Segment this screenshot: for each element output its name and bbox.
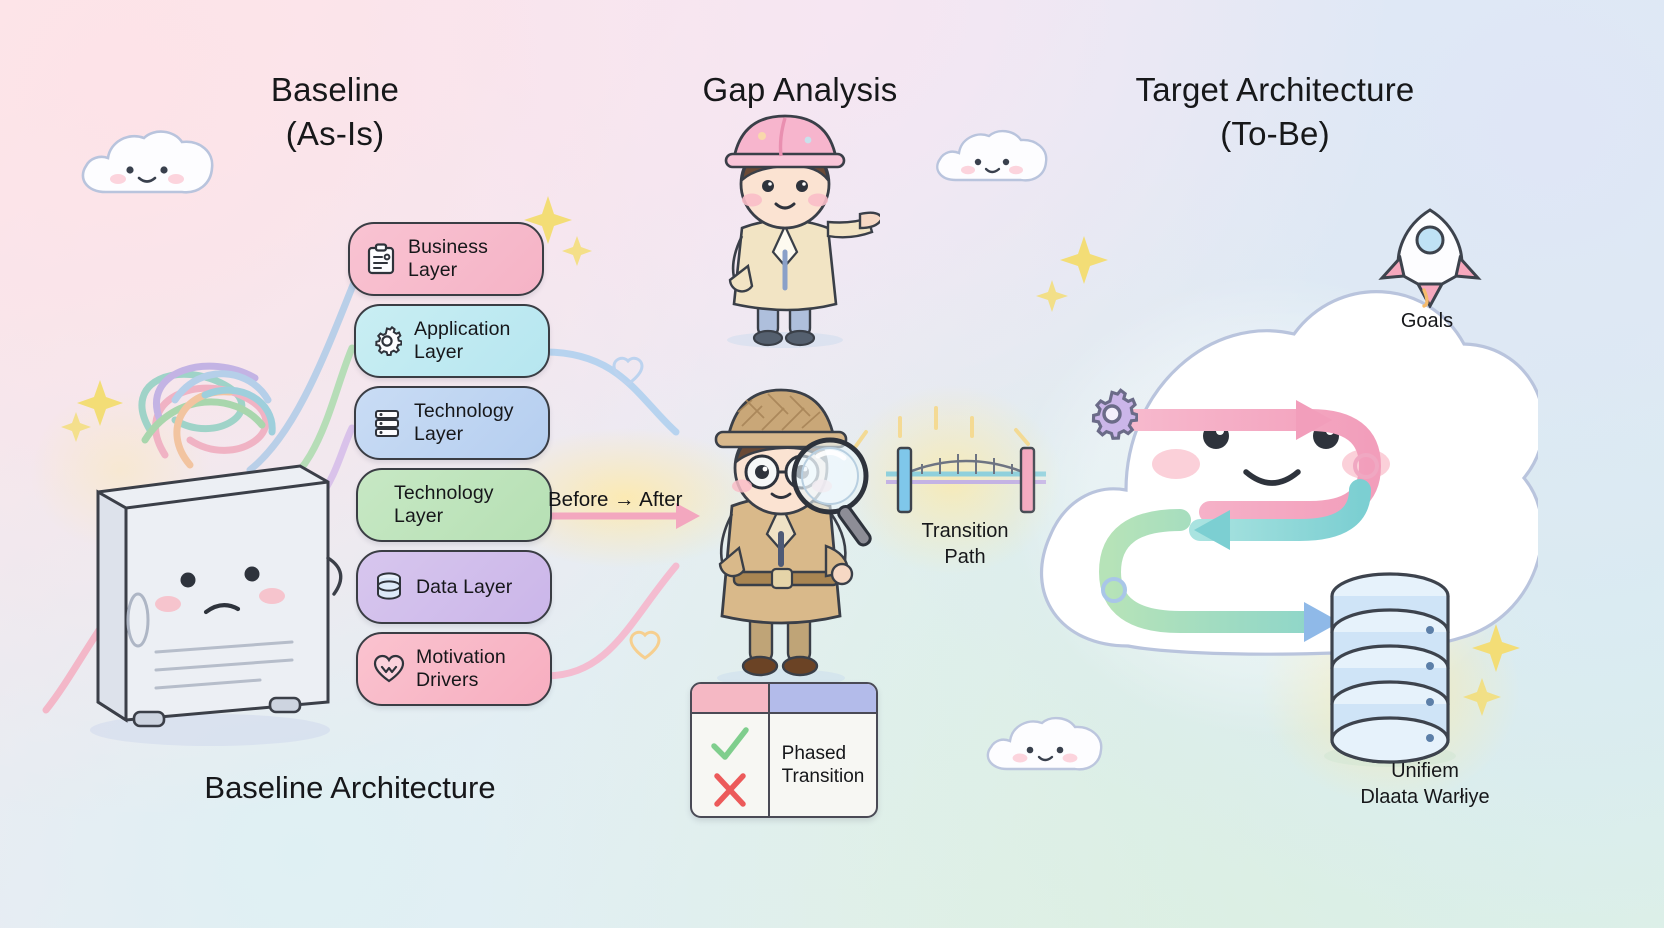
phased-card-header-left <box>692 684 770 712</box>
phased-card-label-column: Phased Transition <box>770 714 876 818</box>
clipboard-icon <box>364 243 398 275</box>
warehouse-label-line1: Unifiem <box>1300 758 1550 784</box>
phased-transition-card[interactable]: Phased Transition <box>690 682 878 818</box>
gap-analysis-title: Gap Analysis <box>640 68 960 112</box>
phased-card-body: Phased Transition <box>692 714 876 818</box>
legacy-server-character <box>60 420 360 750</box>
cloud-center <box>928 122 1053 198</box>
phased-card-header-right <box>770 684 876 712</box>
before-after-label: Before → After <box>548 487 718 513</box>
phased-card-status-column <box>692 714 770 818</box>
target-title-line2: (To-Be) <box>1085 112 1465 156</box>
gear-icon <box>370 326 404 356</box>
layer-pill-data[interactable]: Data Layer <box>356 550 552 624</box>
engineer-character <box>690 110 880 350</box>
baseline-title-line2: (As-Is) <box>190 112 480 156</box>
goals-label: Goals <box>1362 308 1492 334</box>
layer-pill-application-label: Application Layer <box>414 318 511 364</box>
layer-pill-technology-green-label: Technology Layer <box>394 482 494 528</box>
target-title-line1: Target Architecture <box>1085 68 1465 112</box>
detective-character <box>676 360 886 690</box>
layer-pill-motivation[interactable]: Motivation Drivers <box>356 632 552 706</box>
baseline-title-line1: Baseline <box>190 68 480 112</box>
page-title-baseline: Baseline (As-Is) <box>190 68 480 155</box>
rocket-icon <box>1368 196 1488 308</box>
heart-icon <box>372 654 406 684</box>
server-icon <box>370 408 404 438</box>
layer-pill-data-label: Data Layer <box>416 576 512 599</box>
database-icon <box>372 571 406 603</box>
layer-pill-motivation-label: Motivation Drivers <box>416 646 506 692</box>
database-stack-icon <box>1310 570 1470 770</box>
layer-stack: Business Layer Application Layer <box>348 222 548 722</box>
phased-card-label: Phased Transition <box>782 743 865 789</box>
check-icon <box>708 724 752 764</box>
layer-pill-technology-blue[interactable]: Technology Layer <box>354 386 550 460</box>
unified-data-warehouse-label: Unifiem Dlaata Warłiye <box>1300 758 1550 810</box>
layer-pill-technology-green[interactable]: Technology Layer <box>356 468 552 542</box>
phased-card-header <box>692 684 876 714</box>
layer-pill-application[interactable]: Application Layer <box>354 304 550 378</box>
gear-icon <box>1086 388 1138 440</box>
layer-pill-business-label: Business Layer <box>408 236 488 282</box>
cloud-left <box>72 122 222 212</box>
page-title-gap-analysis: Gap Analysis <box>640 68 960 112</box>
cross-icon <box>710 771 750 809</box>
layer-pill-business[interactable]: Business Layer <box>348 222 544 296</box>
warehouse-label-line2: Dlaata Warłiye <box>1300 784 1550 810</box>
illustration-canvas: Baseline (As-Is) Gap Analysis Target Arc… <box>0 0 1664 928</box>
page-title-target: Target Architecture (To-Be) <box>1085 68 1465 155</box>
baseline-architecture-caption: Baseline Architecture <box>140 768 560 808</box>
layer-pill-technology-blue-label: Technology Layer <box>414 400 514 446</box>
